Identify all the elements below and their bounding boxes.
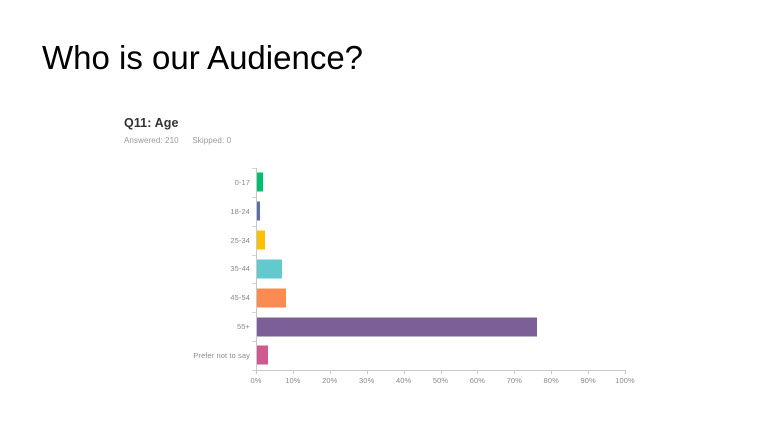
x-axis-tick-label: 70% — [507, 376, 522, 385]
bar-segment[interactable] — [256, 173, 263, 192]
bar-category-label: 55+ — [124, 322, 256, 331]
x-axis-tick-mark — [441, 370, 442, 374]
bar-track — [256, 168, 644, 197]
chart-plot-area: 0-1718-2425-3435-4445-5455+Prefer not to… — [124, 168, 644, 401]
x-axis-tick-mark — [293, 370, 294, 374]
x-axis-tick-mark — [330, 370, 331, 374]
page-title: Who is our Audience? — [42, 39, 363, 77]
chart-response-summary: Answered: 210 Skipped: 0 — [124, 136, 644, 146]
bar-segment[interactable] — [256, 317, 537, 336]
bar-segment[interactable] — [256, 346, 268, 365]
bar-row: 55+ — [124, 312, 644, 341]
x-axis-tick-label: 50% — [433, 376, 448, 385]
bar-track — [256, 312, 644, 341]
bar-track — [256, 197, 644, 226]
y-axis-tick — [252, 255, 256, 256]
x-axis-tick-mark — [477, 370, 478, 374]
bar-track — [256, 283, 644, 312]
x-axis-tick-label: 80% — [544, 376, 559, 385]
y-axis-tick — [252, 197, 256, 198]
x-axis-tick-mark — [551, 370, 552, 374]
y-axis-tick — [252, 283, 256, 284]
bar-category-label: 25-34 — [124, 236, 256, 245]
bar-segment[interactable] — [256, 231, 265, 250]
x-axis-tick-label: 30% — [359, 376, 374, 385]
x-axis-tick-mark — [514, 370, 515, 374]
x-axis-tick-label: 90% — [580, 376, 595, 385]
x-axis-tick-label: 40% — [396, 376, 411, 385]
bar-category-label: 45-54 — [124, 293, 256, 302]
bar-category-label: 0-17 — [124, 178, 256, 187]
x-axis-tick-label: 100% — [615, 376, 635, 385]
slide: Who is our Audience? Q11: Age Answered: … — [0, 0, 782, 442]
bar-row: 35-44 — [124, 255, 644, 284]
x-axis-tick-mark — [404, 370, 405, 374]
y-axis-tick — [252, 226, 256, 227]
bar-category-label: Prefer not to say — [124, 351, 256, 360]
bar-track — [256, 341, 644, 370]
skipped-count: Skipped: 0 — [192, 136, 231, 145]
bar-track — [256, 226, 644, 255]
x-axis-tick-mark — [367, 370, 368, 374]
bar-row: Prefer not to say — [124, 341, 644, 370]
bar-category-label: 35-44 — [124, 264, 256, 273]
chart-title: Q11: Age — [124, 116, 644, 130]
x-axis-tick-label: 10% — [285, 376, 300, 385]
x-axis-tick-mark — [625, 370, 626, 374]
bar-segment[interactable] — [256, 288, 286, 307]
y-axis-tick — [252, 341, 256, 342]
survey-chart-panel: Q11: Age Answered: 210 Skipped: 0 0-1718… — [124, 116, 644, 401]
x-axis-tick-label: 60% — [470, 376, 485, 385]
x-axis-tick-mark — [256, 370, 257, 374]
x-axis-tick-label: 0% — [250, 376, 261, 385]
x-axis-ticks: 0%10%20%30%40%50%60%70%80%90%100% — [256, 370, 625, 394]
x-axis-tick-mark — [588, 370, 589, 374]
y-axis-line — [256, 168, 257, 370]
y-axis-tick — [252, 168, 256, 169]
bar-segment[interactable] — [256, 259, 282, 278]
bar-row: 45-54 — [124, 283, 644, 312]
bar-track — [256, 255, 644, 284]
x-axis-tick-label: 20% — [322, 376, 337, 385]
bar-row: 0-17 — [124, 168, 644, 197]
bar-row: 25-34 — [124, 226, 644, 255]
answered-count: Answered: 210 — [124, 136, 179, 145]
bar-rows: 0-1718-2425-3435-4445-5455+Prefer not to… — [124, 168, 644, 370]
y-axis-tick — [252, 312, 256, 313]
bar-row: 18-24 — [124, 197, 644, 226]
bar-category-label: 18-24 — [124, 207, 256, 216]
